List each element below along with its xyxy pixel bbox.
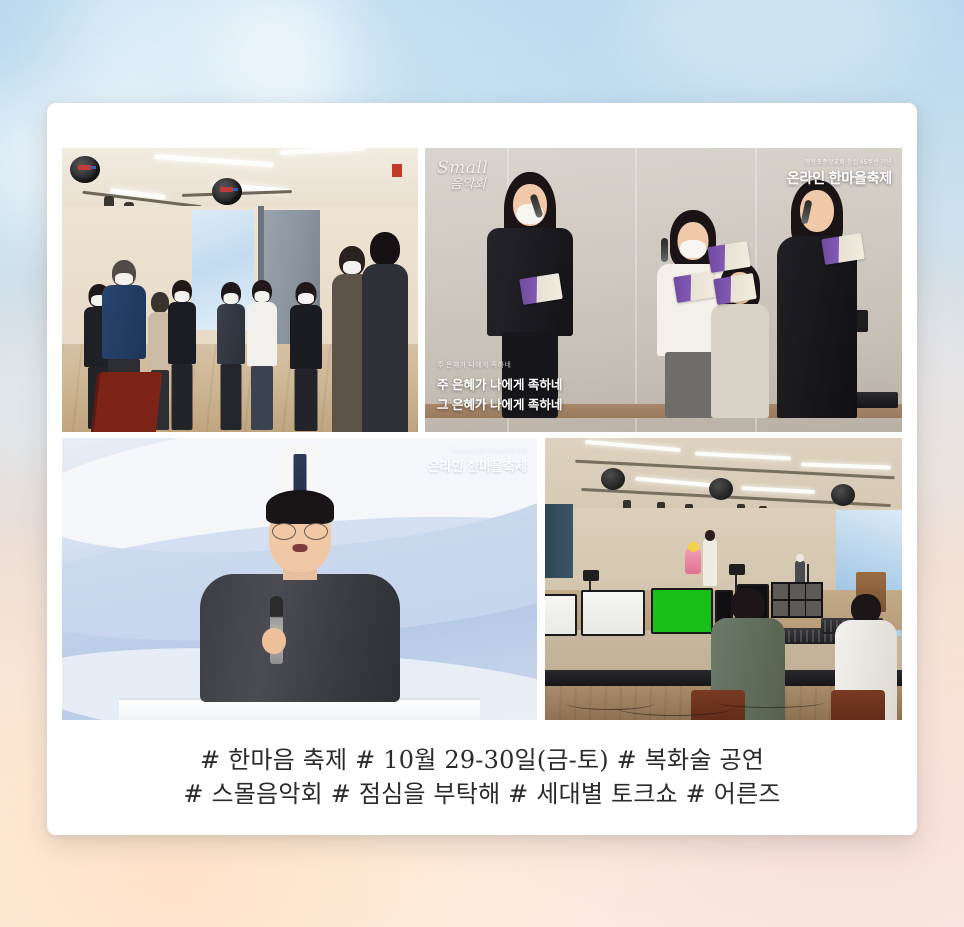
event-brand-superline: 영등포중앙교회 창립 65주년 기념 <box>787 157 892 166</box>
photo-grid: Small 음악회 영등포중앙교회 창립 65주년 기념 온라인 한마을축제 주… <box>62 148 902 720</box>
caption-line-2: # 스몰음악회 # 점심을 부탁해 # 세대별 토크쇼 # 어른즈 <box>47 777 917 811</box>
photo-control-room-image <box>545 438 902 720</box>
event-brand-speaker: 영등포중앙교회 창립 65주년 기념 온라인 한마을축제 <box>428 446 527 475</box>
caption-line-1: # 한마음 축제 # 10월 29-30일(금-토) # 복화술 공연 <box>47 743 917 777</box>
photo-small-concert[interactable]: Small 음악회 영등포중앙교회 창립 65주년 기념 온라인 한마을축제 주… <box>425 148 902 432</box>
event-brand-superline: 영등포중앙교회 창립 65주년 기념 <box>428 446 527 454</box>
background-blob <box>620 0 920 95</box>
page-root: Small 음악회 영등포중앙교회 창립 65주년 기념 온라인 한마을축제 주… <box>0 0 964 927</box>
event-brand-title: 온라인 한마을축제 <box>428 456 527 475</box>
monitor-editor <box>581 590 645 636</box>
lyrics-line-1: 주 은혜가 나에게 족하네 <box>437 375 562 396</box>
photo-control-room[interactable] <box>545 438 902 720</box>
photo-small-concert-image: Small 음악회 영등포중앙교회 창립 65주년 기념 온라인 한마을축제 주… <box>425 148 902 432</box>
monitor-left <box>545 594 577 636</box>
concert-logo-line1: Small <box>437 160 488 177</box>
photo-speaker-image: 영등포중앙교회 창립 65주년 기념 온라인 한마을축제 <box>62 438 537 720</box>
caption: # 한마음 축제 # 10월 29-30일(금-토) # 복화술 공연 # 스몰… <box>47 743 917 811</box>
photo-prayer-circle-image <box>62 148 418 432</box>
event-brand-title: 온라인 한마을축제 <box>787 168 892 188</box>
concert-logo-line2: 음악회 <box>450 178 488 191</box>
lyrics-line-2: 그 은혜가 나에게 족하네 <box>437 395 562 416</box>
monitor-greenscreen <box>651 588 713 634</box>
lyrics-ghost-line: 주 은혜가 나에게 족하네 <box>437 360 562 370</box>
lyrics-overlay: 주 은혜가 나에게 족하네 주 은혜가 나에게 족하네 그 은혜가 나에게 족하… <box>437 360 562 416</box>
event-brand-concert: 영등포중앙교회 창립 65주년 기념 온라인 한마을축제 <box>787 157 892 188</box>
photo-prayer-circle[interactable] <box>62 148 418 432</box>
photo-speaker[interactable]: 영등포중앙교회 창립 65주년 기념 온라인 한마을축제 <box>62 438 537 720</box>
small-concert-logo: Small 음악회 <box>437 160 488 191</box>
collage-card: Small 음악회 영등포중앙교회 창립 65주년 기념 온라인 한마을축제 주… <box>47 103 917 835</box>
